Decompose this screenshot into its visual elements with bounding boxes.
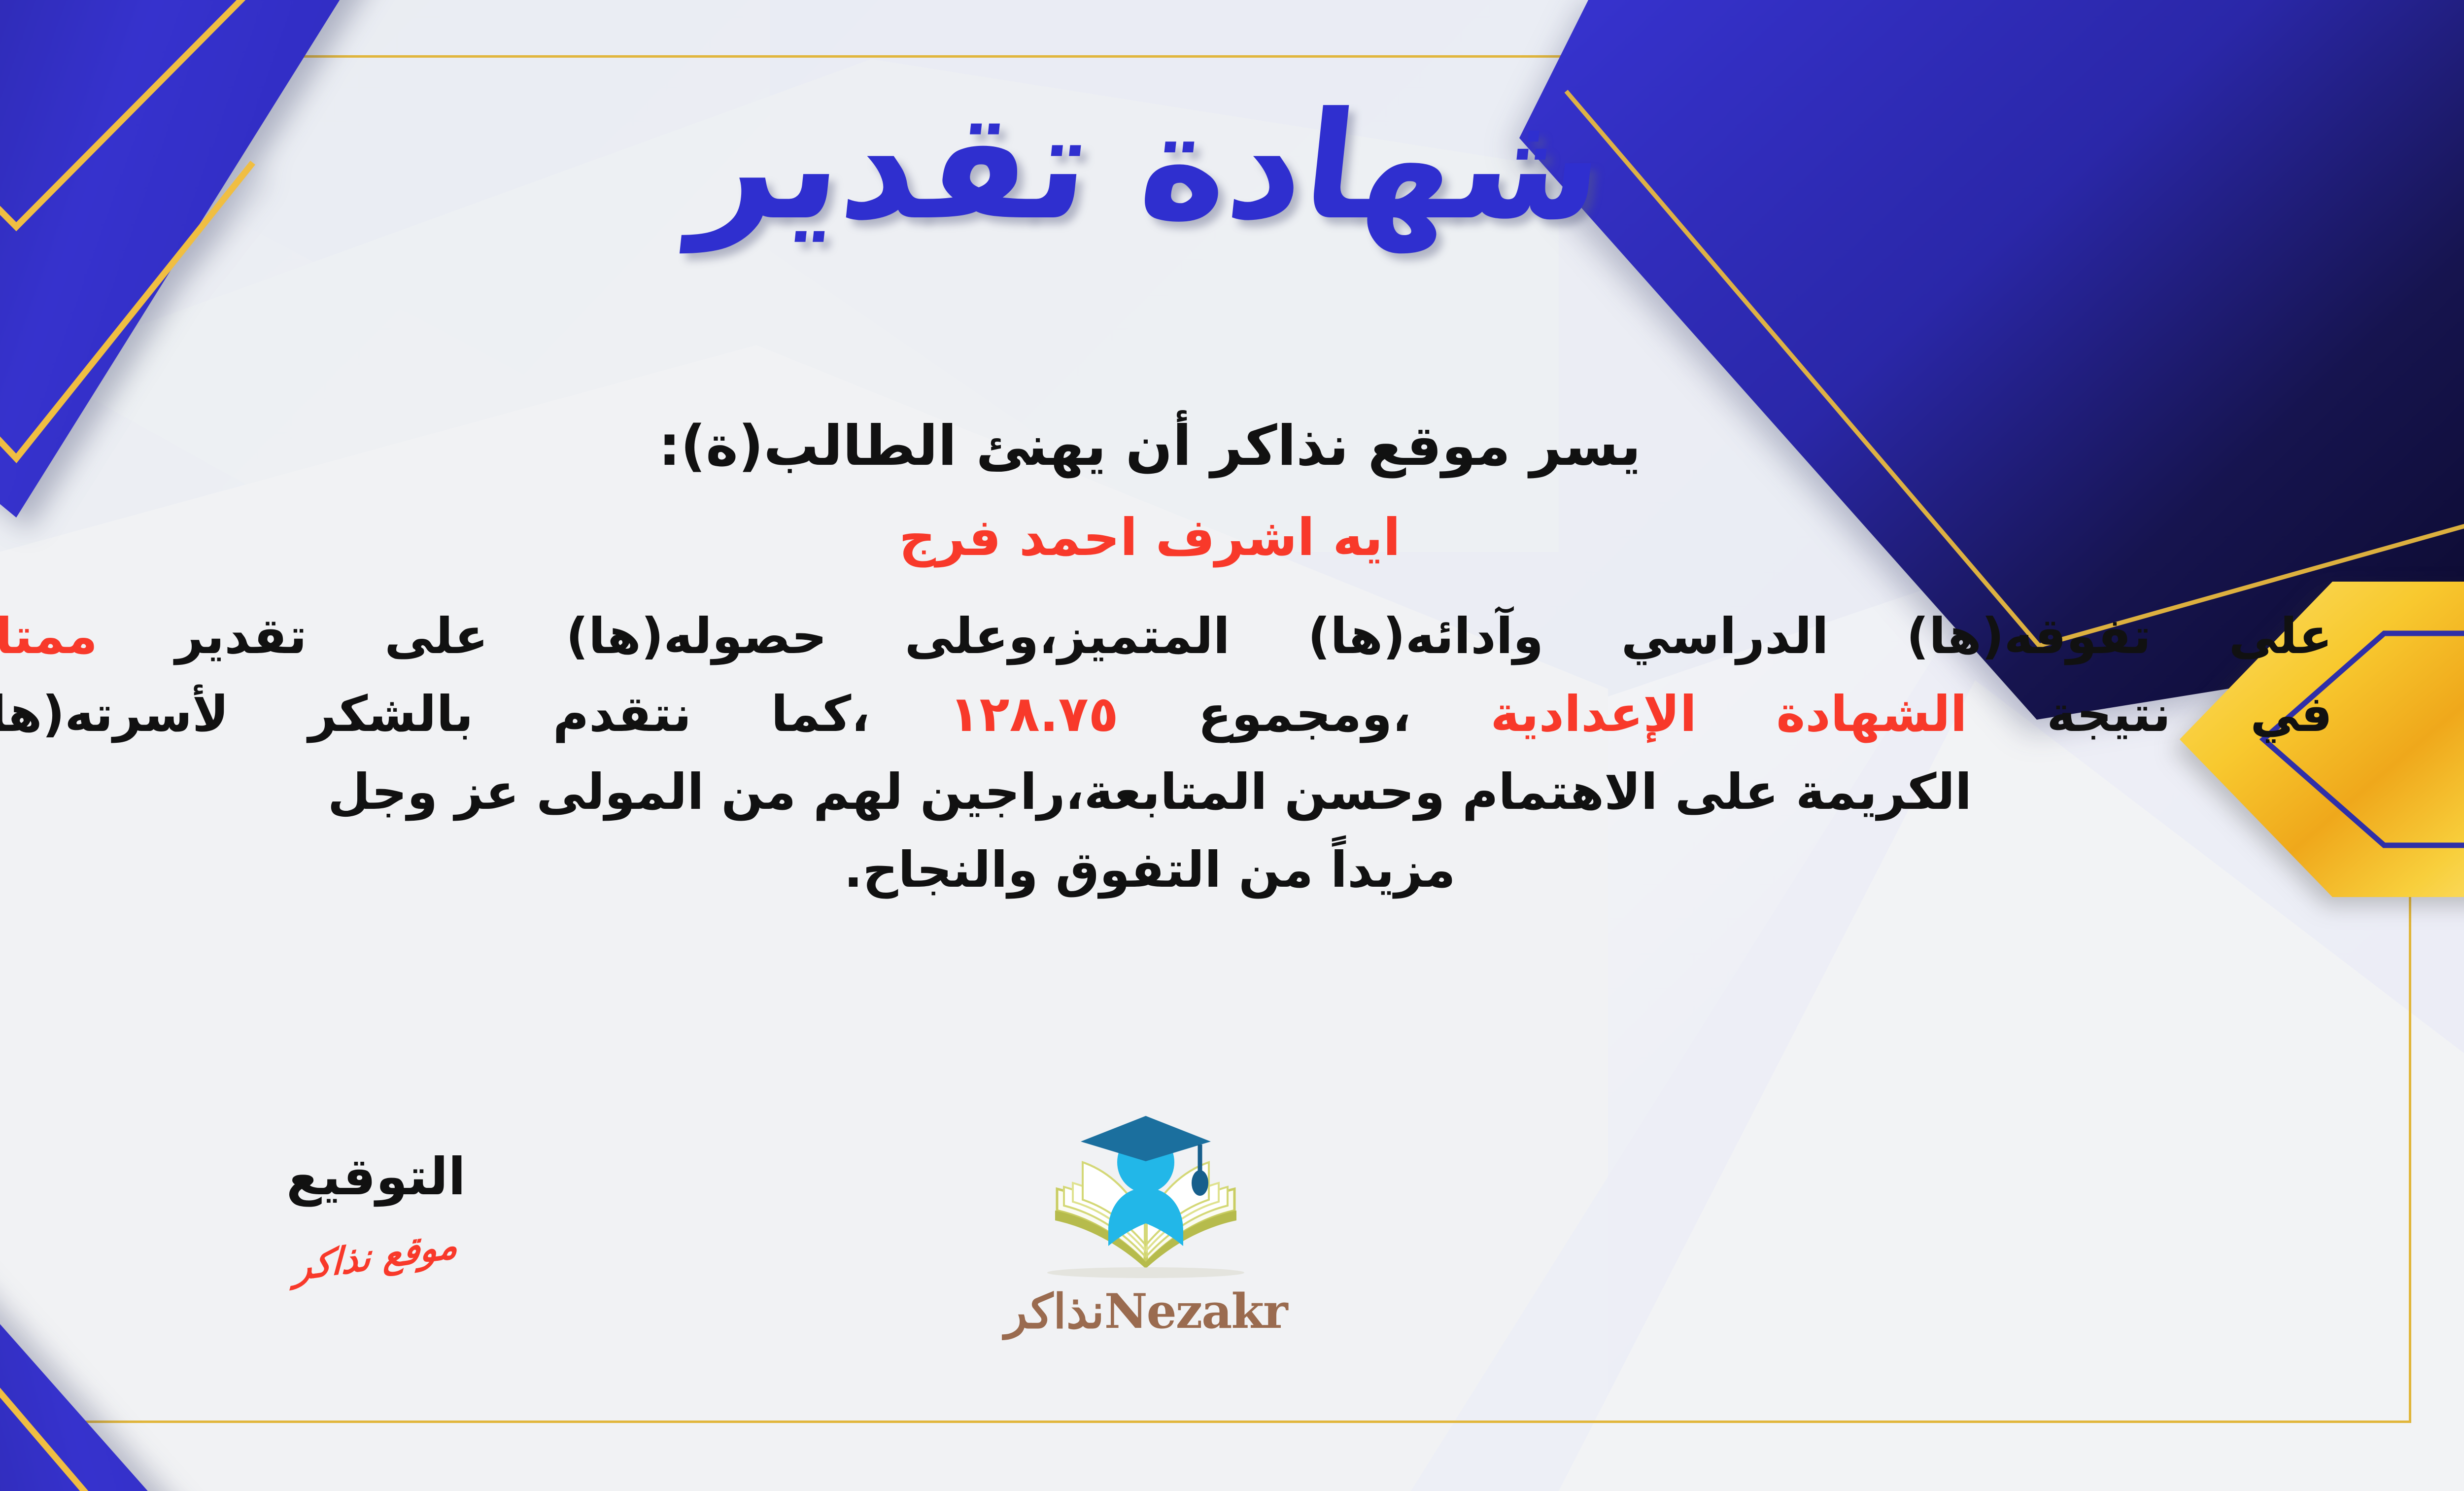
paragraph-line-2-prefix: في نتيجة xyxy=(2047,685,2332,743)
logo-wordmark: Nezakrنذاكر xyxy=(958,1283,1333,1339)
signature-label: التوقيع xyxy=(218,1148,534,1205)
paragraph-line-2: في نتيجة الشهادة الإعدادية ،ومجموع ١٢٨.٧… xyxy=(0,675,2352,753)
certificate-page: شهادة تقدير يسر موقع نذاكر أن يهنئ الطال… xyxy=(0,0,2464,1491)
paragraph-line-2-suffix: ،كما نتقدم بالشكر لأسرته(ها) xyxy=(0,685,870,743)
paragraph-line-4: مزيداً من التفوق والنجاح. xyxy=(0,831,2352,909)
congratulation-line: يسر موقع نذاكر أن يهنئ الطالب(ة): xyxy=(0,409,2352,484)
paragraph-line-1-text: على تفوقه(ها) الدراسي وآدائه(ها) المتميز… xyxy=(175,607,2332,665)
paragraph-line-1: على تفوقه(ها) الدراسي وآدائه(ها) المتميز… xyxy=(0,597,2352,675)
graduate-book-logo-icon xyxy=(1037,1114,1254,1286)
paragraph-line-3: الكريمة على الاهتمام وحسن المتابعة،راجين… xyxy=(0,753,2352,831)
student-name: ايه اشرف احمد فرج xyxy=(0,504,2352,571)
grade-value: ممتاز xyxy=(0,607,98,665)
certificate-body: يسر موقع نذاكر أن يهنئ الطالب(ة): ايه اش… xyxy=(0,409,2352,909)
exam-name-value: الشهادة الإعدادية xyxy=(1490,685,1967,743)
site-logo: Nezakrنذاكر xyxy=(958,1114,1333,1339)
signature-block: التوقيع موقع نذاكر xyxy=(218,1148,534,1278)
paragraph-line-2-mid: ،ومجموع xyxy=(1198,685,1411,743)
certificate-paragraph: على تفوقه(ها) الدراسي وآدائه(ها) المتميز… xyxy=(0,597,2352,909)
total-score-value: ١٢٨.٧٥ xyxy=(950,685,1119,743)
